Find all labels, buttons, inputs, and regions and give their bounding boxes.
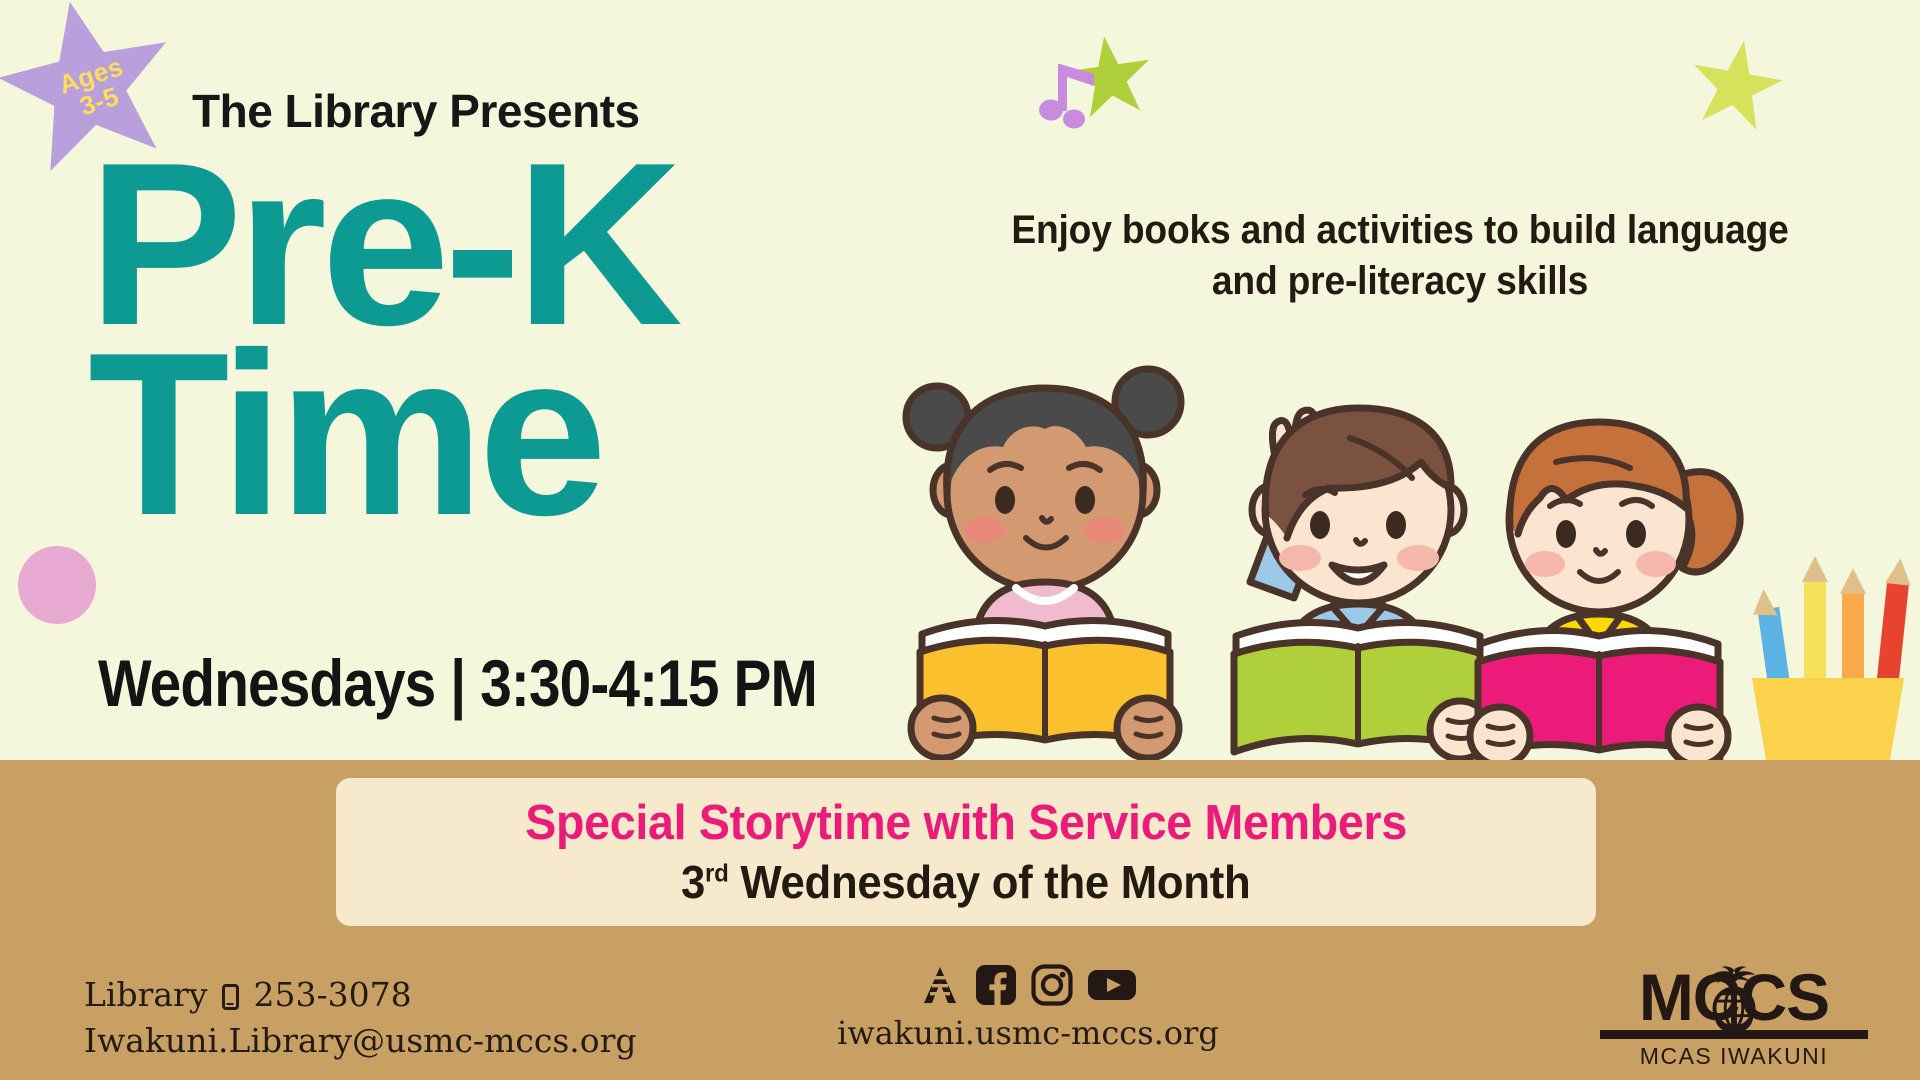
banner-subline-suffix: rd <box>705 860 728 888</box>
child-reading-right <box>1470 422 1740 760</box>
music-note-icon <box>1030 48 1120 138</box>
website-url[interactable]: iwakuni.usmc-mccs.org <box>837 1014 1219 1052</box>
banner-headline: Special Storytime with Service Members <box>525 795 1407 851</box>
description-line-1: Enjoy books and activities to build lang… <box>1011 208 1788 252</box>
yellow-star-decoration <box>1683 33 1790 140</box>
poster-canvas: Ages 3-5 The Library Presents Pre-K Time… <box>0 0 1920 1080</box>
youtube-icon[interactable] <box>1087 964 1137 1006</box>
description-line-2: and pre-literacy skills <box>1212 259 1588 303</box>
banner-subline: 3rd Wednesday of the Month <box>681 855 1250 909</box>
eagle-globe-anchor-icon <box>1695 961 1773 1039</box>
banner-subline-ordinal: 3 <box>681 856 705 908</box>
contact-label: Library <box>84 975 207 1014</box>
child-hand-raised <box>1234 408 1490 759</box>
description-text: Enjoy books and activities to build lang… <box>935 205 1865 307</box>
child-reading-left <box>906 369 1181 758</box>
facebook-icon[interactable] <box>975 964 1017 1006</box>
phone-icon <box>222 984 239 1010</box>
special-storytime-banner: Special Storytime with Service Members 3… <box>336 778 1596 926</box>
mccs-logo: MCCS MCAS IWAKUNI <box>1600 966 1868 1070</box>
pencil-cup <box>1750 556 1914 760</box>
mccs-logo-subtitle: MCAS IWAKUNI <box>1640 1043 1828 1070</box>
schedule-text: Wednesdays | 3:30-4:15 PM <box>98 645 817 721</box>
page-title-line-2: Time <box>88 340 677 530</box>
page-title: Pre-K Time <box>88 150 677 530</box>
instagram-icon[interactable] <box>1031 964 1073 1006</box>
phone-number[interactable]: 253-3078 <box>253 975 411 1014</box>
mccs-wordmark-wrap: MCCS <box>1600 966 1868 1028</box>
children-reading-illustration <box>880 330 1920 760</box>
mccs-app-icon[interactable] <box>919 964 961 1006</box>
email-address[interactable]: Iwakuni.Library@usmc-mccs.org <box>84 1018 637 1064</box>
contact-phone-line: Library 253-3078 <box>84 972 637 1018</box>
banner-subline-rest: Wednesday of the Month <box>729 856 1251 908</box>
social-section: iwakuni.usmc-mccs.org <box>818 962 1238 1052</box>
social-icon-row <box>919 962 1137 1008</box>
contact-info: Library 253-3078 Iwakuni.Library@usmc-mc… <box>84 972 637 1063</box>
pink-circle-decoration <box>18 546 96 624</box>
